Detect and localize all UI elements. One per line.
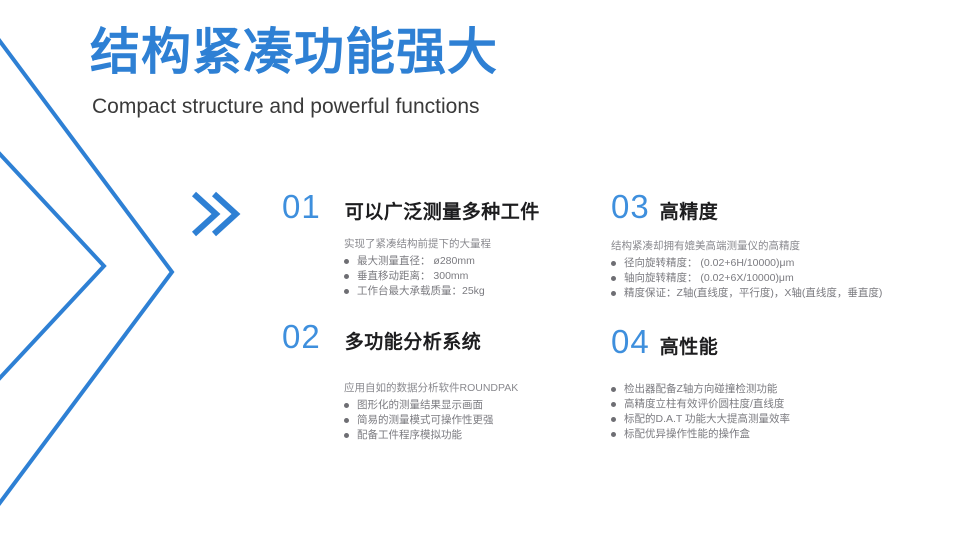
bullet-text: 简易的测量模式可操作性更强	[357, 414, 494, 426]
bullet-dot-icon	[344, 289, 349, 294]
list-item: 简易的测量模式可操作性更强	[344, 413, 518, 428]
bullet-text: 标配优异操作性能的操作盒	[624, 428, 750, 440]
list-item: 最大测量直径： ø280mm	[344, 254, 540, 269]
feature-04-bullet-list: 检出器配备Z轴方向碰撞检测功能 高精度立柱有效评价圆柱度/直线度 标配的D.A.…	[611, 382, 790, 442]
slide-root: 结构紧凑功能强大 Compact structure and powerful …	[0, 0, 960, 540]
list-item: 标配的D.A.T 功能大大提高测量效率	[611, 412, 790, 427]
bullet-dot-icon	[611, 432, 616, 437]
list-item: 标配优异操作性能的操作盒	[611, 427, 790, 442]
inner-chevron-line	[0, 122, 104, 410]
feature-block-02: 02 多功能分析系统 应用自如的数据分析软件ROUNDPAK 图形化的测量结果显…	[282, 320, 518, 443]
bullet-text: 垂直移动距离： 300mm	[357, 270, 468, 282]
list-item: 精度保证：Z轴(直线度，平行度)，X轴(直线度，垂直度)	[611, 286, 882, 301]
bullet-text: 精度保证：Z轴(直线度，平行度)，X轴(直线度，垂直度)	[624, 287, 882, 299]
feature-block-01: 01 可以广泛测量多种工件 实现了紧凑结构前提下的大量程 最大测量直径： ø28…	[282, 190, 540, 299]
bullet-dot-icon	[344, 259, 349, 264]
bullet-dot-icon	[344, 403, 349, 408]
bullet-text: 轴向旋转精度： (0.02+6X/10000)μm	[624, 272, 794, 284]
feature-02-bullet-list: 图形化的测量结果显示画面 简易的测量模式可操作性更强 配备工件程序模拟功能	[344, 398, 518, 443]
bullet-text: 工作台最大承载质量：25kg	[357, 285, 485, 297]
list-item: 图形化的测量结果显示画面	[344, 398, 518, 413]
feature-04-number: 04	[611, 325, 650, 359]
bullet-dot-icon	[611, 402, 616, 407]
bullet-dot-icon	[611, 417, 616, 422]
list-item: 高精度立柱有效评价圆柱度/直线度	[611, 397, 790, 412]
feature-02-heading: 02 多功能分析系统	[282, 320, 518, 355]
bullet-dot-icon	[611, 261, 616, 266]
feature-01-bullet-list: 最大测量直径： ø280mm 垂直移动距离： 300mm 工作台最大承载质量：2…	[344, 254, 540, 299]
page-title-cn: 结构紧凑功能强大	[90, 22, 710, 82]
feature-04-title: 高性能	[660, 336, 719, 360]
bullet-dot-icon	[611, 387, 616, 392]
bullet-text: 径向旋转精度： (0.02+6H/10000)μm	[624, 257, 794, 269]
double-chevron-right-icon	[188, 186, 248, 242]
feature-01-number: 01	[282, 190, 321, 224]
feature-03-lead: 结构紧凑却拥有媲美高端测量仪的高精度	[611, 239, 882, 254]
feature-03-title: 高精度	[660, 201, 719, 225]
feature-02-title: 多功能分析系统	[345, 331, 482, 355]
feature-03-body: 结构紧凑却拥有媲美高端测量仪的高精度 径向旋转精度： (0.02+6H/1000…	[611, 239, 882, 301]
feature-02-number: 02	[282, 320, 321, 354]
bullet-text: 图形化的测量结果显示画面	[357, 399, 483, 411]
feature-03-heading: 03 高精度	[611, 190, 882, 225]
feature-02-lead: 应用自如的数据分析软件ROUNDPAK	[344, 381, 518, 396]
list-item: 工作台最大承载质量：25kg	[344, 284, 540, 299]
feature-01-lead: 实现了紧凑结构前提下的大量程	[344, 237, 540, 252]
feature-01-heading: 01 可以广泛测量多种工件	[282, 190, 540, 225]
feature-02-body: 应用自如的数据分析软件ROUNDPAK 图形化的测量结果显示画面 简易的测量模式…	[344, 381, 518, 443]
bullet-dot-icon	[344, 433, 349, 438]
feature-03-number: 03	[611, 190, 650, 224]
list-item: 径向旋转精度： (0.02+6H/10000)μm	[611, 256, 882, 271]
slide-header: 结构紧凑功能强大 Compact structure and powerful …	[90, 22, 710, 122]
list-item: 轴向旋转精度： (0.02+6X/10000)μm	[611, 271, 882, 286]
feature-04-heading: 04 高性能	[611, 325, 790, 360]
bullet-text: 标配的D.A.T 功能大大提高测量效率	[624, 413, 790, 425]
bullet-text: 检出器配备Z轴方向碰撞检测功能	[624, 383, 777, 395]
feature-03-bullet-list: 径向旋转精度： (0.02+6H/10000)μm 轴向旋转精度： (0.02+…	[611, 256, 882, 301]
feature-04-body: 检出器配备Z轴方向碰撞检测功能 高精度立柱有效评价圆柱度/直线度 标配的D.A.…	[611, 382, 790, 442]
bullet-text: 高精度立柱有效评价圆柱度/直线度	[624, 398, 784, 410]
page-subtitle-en: Compact structure and powerful functions	[92, 92, 710, 122]
feature-block-04: 04 高性能 检出器配备Z轴方向碰撞检测功能 高精度立柱有效评价圆柱度/直线度 …	[611, 325, 790, 442]
bullet-dot-icon	[344, 274, 349, 279]
bullet-dot-icon	[344, 418, 349, 423]
bullet-text: 最大测量直径： ø280mm	[357, 255, 475, 267]
feature-01-title: 可以广泛测量多种工件	[345, 201, 540, 225]
list-item: 配备工件程序模拟功能	[344, 428, 518, 443]
list-item: 垂直移动距离： 300mm	[344, 269, 540, 284]
bullet-dot-icon	[611, 291, 616, 296]
list-item: 检出器配备Z轴方向碰撞检测功能	[611, 382, 790, 397]
bullet-dot-icon	[611, 276, 616, 281]
feature-block-03: 03 高精度 结构紧凑却拥有媲美高端测量仪的高精度 径向旋转精度： (0.02+…	[611, 190, 882, 301]
feature-01-body: 实现了紧凑结构前提下的大量程 最大测量直径： ø280mm 垂直移动距离： 30…	[344, 237, 540, 299]
bullet-text: 配备工件程序模拟功能	[357, 429, 462, 441]
